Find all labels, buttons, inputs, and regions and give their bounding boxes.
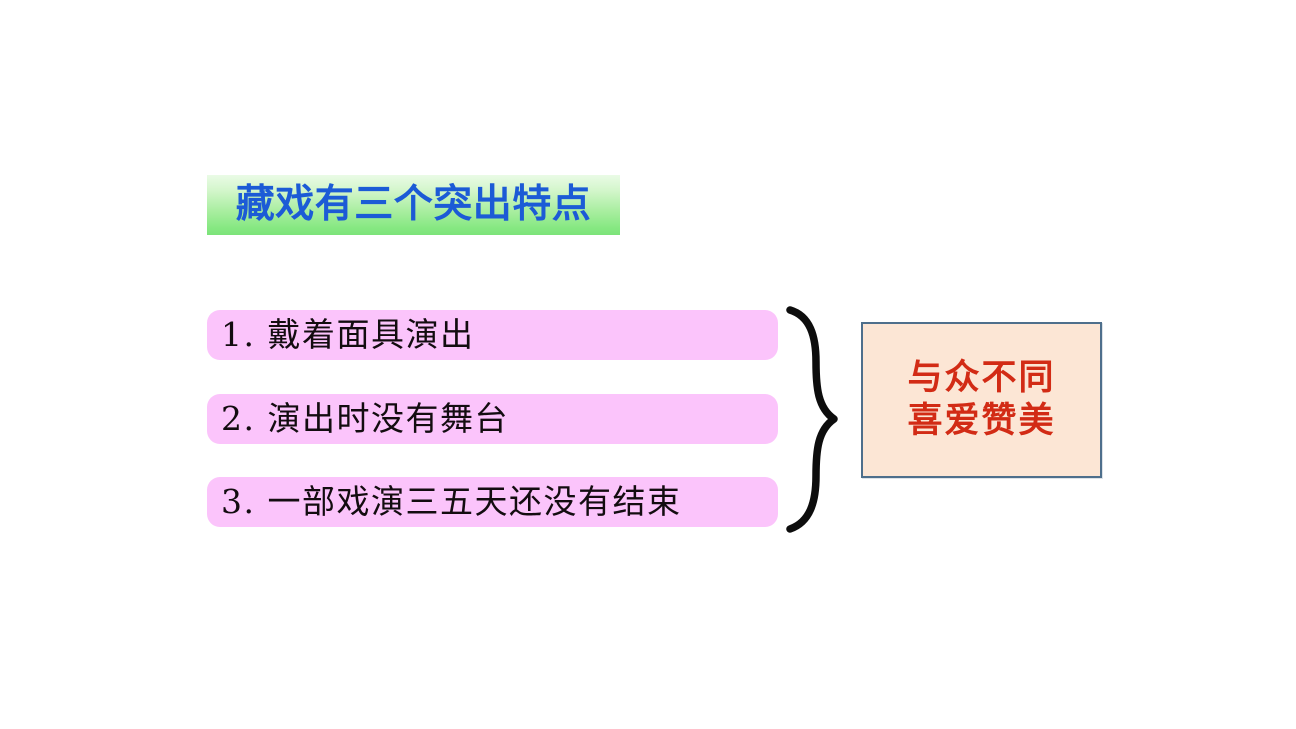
feature-item-3: 3. 一部戏演三五天还没有结束: [207, 477, 778, 527]
feature-item-1-label: 1. 戴着面具演出: [221, 318, 474, 351]
right-curly-brace-icon: [786, 300, 838, 540]
conclusion-box: 与众不同 喜爱赞美: [861, 322, 1102, 478]
feature-item-2-label: 2. 演出时没有舞台: [221, 402, 509, 435]
conclusion-line-2: 喜爱赞美: [907, 400, 1055, 443]
title-banner: 藏戏有三个突出特点: [207, 175, 620, 235]
conclusion-line-1: 与众不同: [907, 357, 1055, 400]
feature-item-1: 1. 戴着面具演出: [207, 310, 778, 360]
feature-item-2: 2. 演出时没有舞台: [207, 394, 778, 444]
page-title: 藏戏有三个突出特点: [236, 185, 592, 224]
slide-canvas: 藏戏有三个突出特点 1. 戴着面具演出 2. 演出时没有舞台 3. 一部戏演三五…: [0, 0, 1296, 729]
feature-item-3-label: 3. 一部戏演三五天还没有结束: [221, 485, 681, 518]
